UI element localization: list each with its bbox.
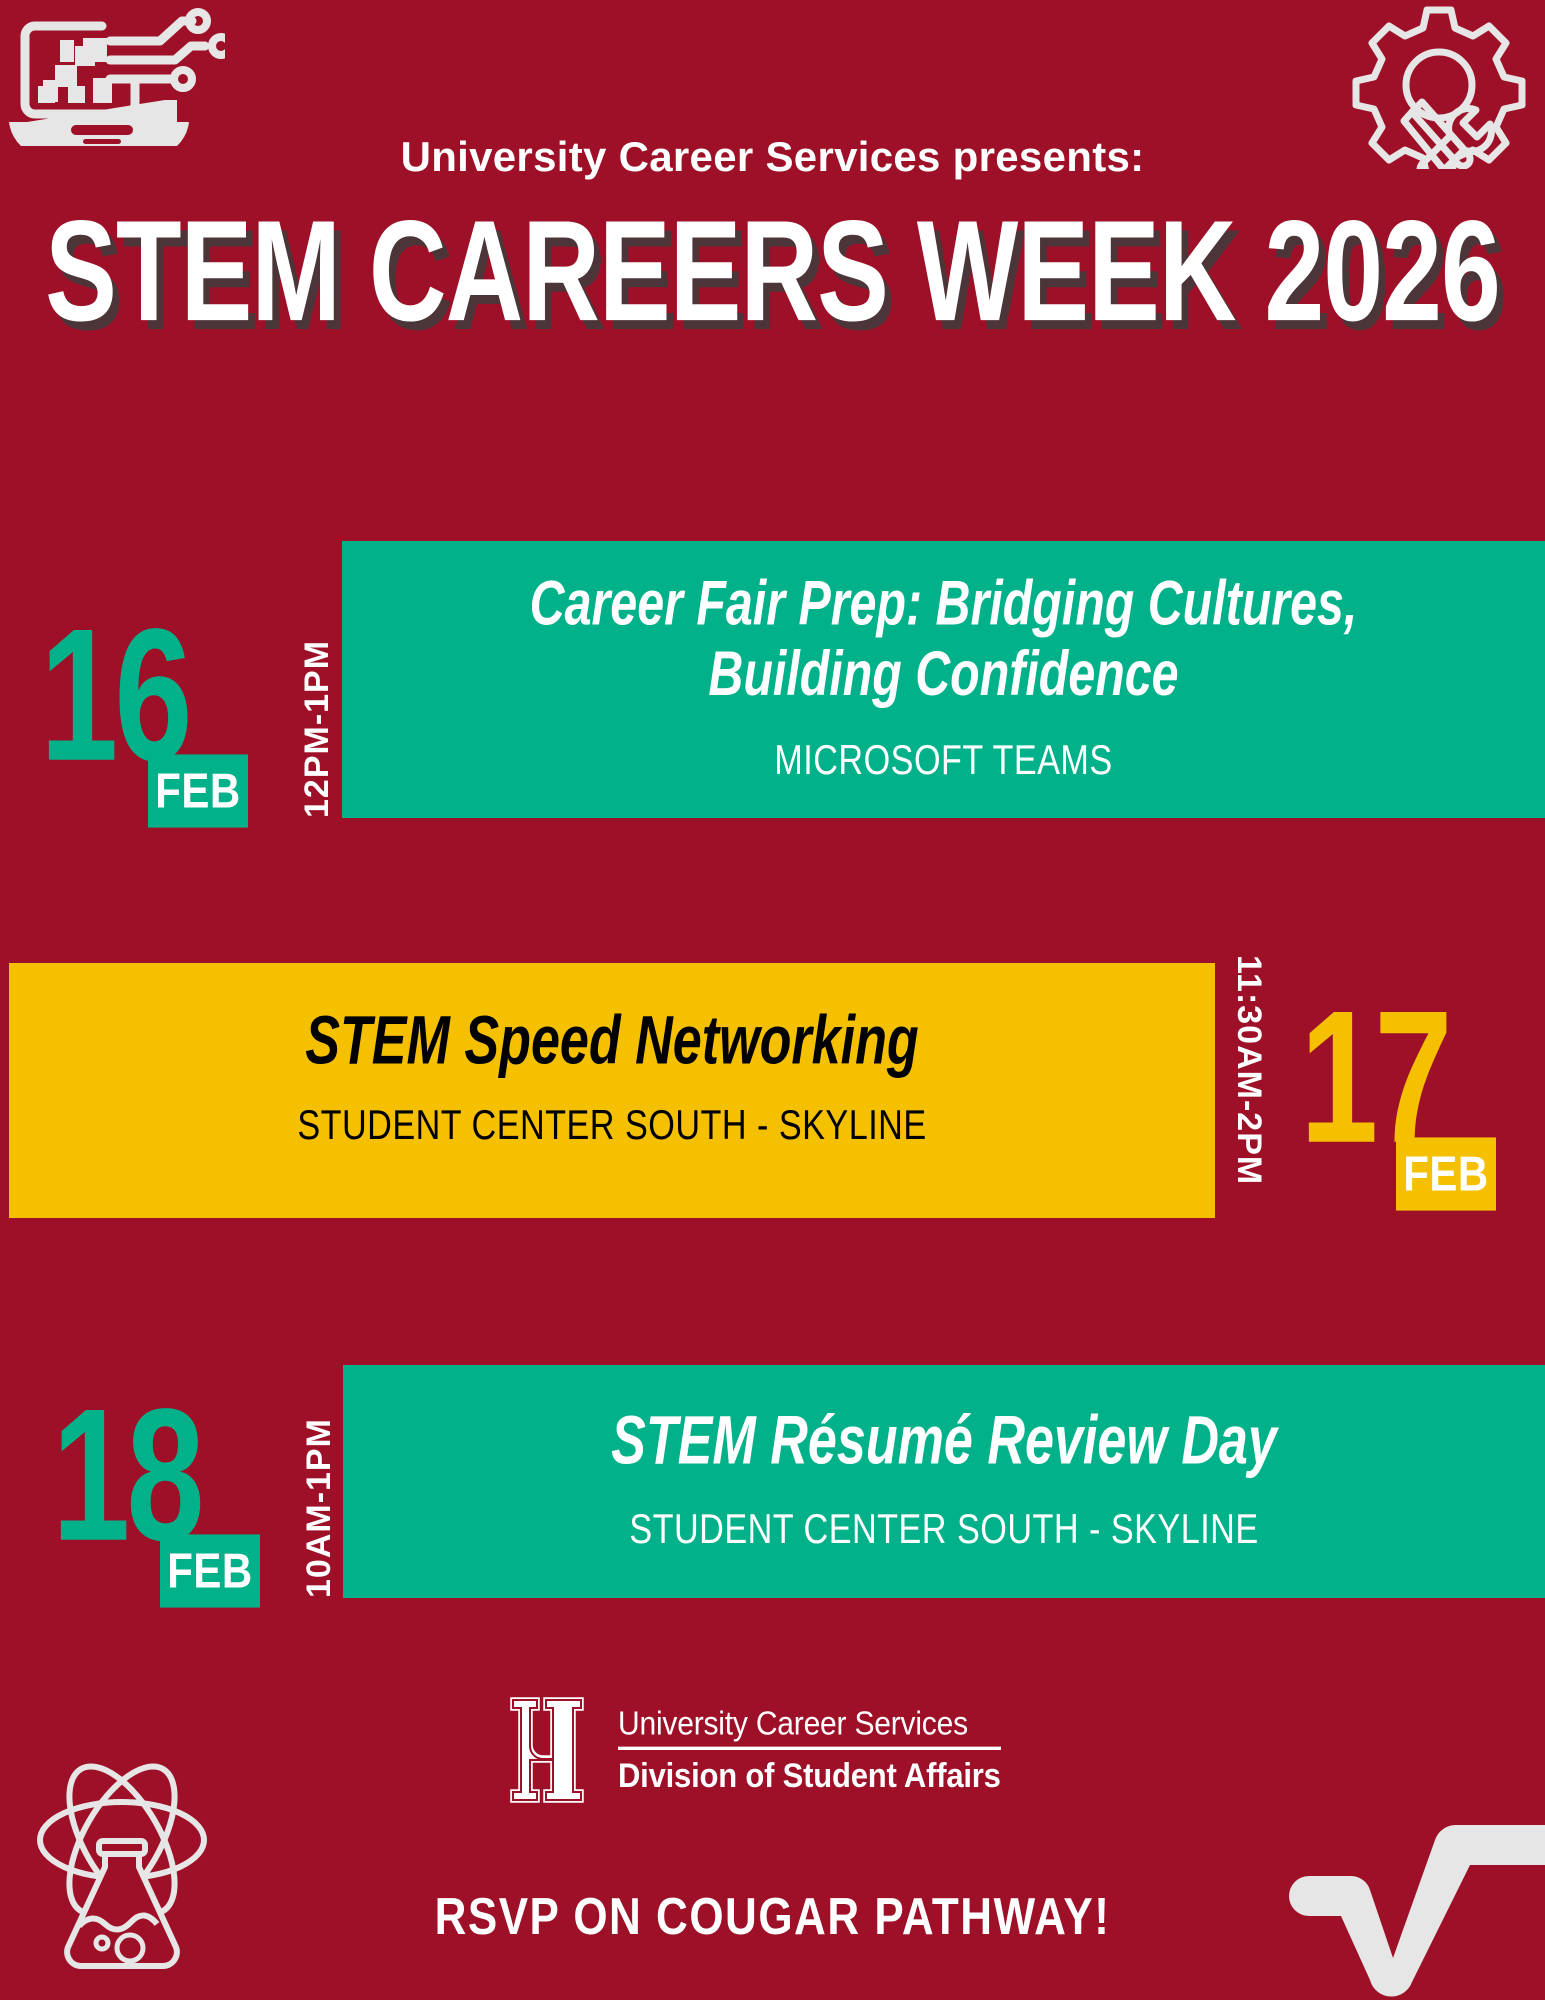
atom-flask-icon bbox=[35, 1745, 210, 1975]
event-1-band: Career Fair Prep: Bridging Cultures, Bui… bbox=[342, 541, 1545, 818]
event-2-title: STEM Speed Networking bbox=[51, 951, 1173, 1079]
uh-career-services-logo: University Career Services Division of S… bbox=[505, 1690, 1001, 1810]
event-1-day: 16 bbox=[40, 618, 189, 773]
event-2-location: STUDENT CENTER SOUTH - SKYLINE bbox=[39, 1101, 1185, 1149]
event-2-day: 17 bbox=[1300, 1000, 1449, 1155]
event-1-time: 12PM-1PM bbox=[298, 640, 337, 818]
event-2-band: STEM Speed Networking STUDENT CENTER SOU… bbox=[9, 963, 1215, 1218]
event-3-month: FEB bbox=[160, 1534, 260, 1607]
event-1-location: MICROSOFT TEAMS bbox=[372, 736, 1515, 784]
event-1-title-line2: Building Confidence bbox=[421, 639, 1465, 710]
event-2-month: FEB bbox=[1396, 1137, 1496, 1210]
event-3-title: STEM Résumé Review Day bbox=[385, 1354, 1503, 1479]
square-root-icon bbox=[1285, 1800, 1545, 2000]
laptop-circuit-icon bbox=[5, 8, 225, 153]
uh-logo-line-2: Division of Student Affairs bbox=[618, 1750, 1001, 1796]
event-3-location: STUDENT CENTER SOUTH - SKYLINE bbox=[373, 1505, 1515, 1553]
uh-interlocking-logo-icon bbox=[505, 1690, 600, 1810]
presents-line: University Career Services presents: bbox=[0, 133, 1545, 181]
event-2-time: 11:30AM-2PM bbox=[1229, 955, 1268, 1185]
uh-logo-line-1: University Career Services bbox=[618, 1705, 1001, 1750]
uh-logo-text: University Career Services Division of S… bbox=[618, 1710, 1001, 1791]
event-1-month: FEB bbox=[148, 754, 248, 827]
event-3-day: 18 bbox=[52, 1398, 201, 1553]
poster-canvas: University Career Services presents: STE… bbox=[0, 0, 1545, 2000]
page-title: STEM CAREERS WEEK 2026 bbox=[31, 196, 1514, 347]
event-1-title: Career Fair Prep: Bridging Cultures, Bui… bbox=[384, 524, 1503, 710]
event-3-band: STEM Résumé Review Day STUDENT CENTER SO… bbox=[343, 1365, 1545, 1598]
event-3-time: 10AM-1PM bbox=[300, 1418, 339, 1598]
event-1-title-line1: Career Fair Prep: Bridging Cultures, bbox=[421, 568, 1465, 639]
